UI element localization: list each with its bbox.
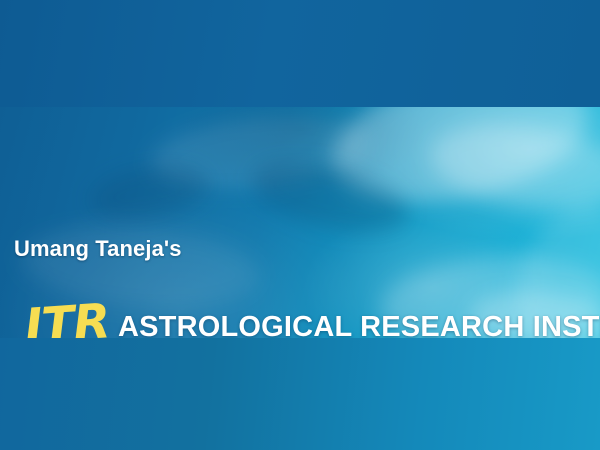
water-texture-wisp (245, 149, 415, 246)
brand-owner-name: Umang Taneja's (14, 236, 182, 262)
screenshot-root: Umang Taneja's JTR ASTROLOGICAL RESEARCH… (0, 0, 600, 450)
jtr-logo-text: JTR (24, 296, 111, 338)
jtr-logo-icon: JTR (24, 296, 120, 338)
water-texture-wisp (425, 113, 600, 220)
water-texture-wisp (87, 157, 214, 227)
institute-title: ASTROLOGICAL RESEARCH INSTITUTE (118, 311, 600, 338)
water-texture-wisp (147, 107, 373, 198)
banner-artwork: Umang Taneja's JTR ASTROLOGICAL RESEARCH… (0, 107, 600, 338)
letterbox-band-top (0, 0, 600, 107)
letterbox-band-bottom (0, 338, 600, 450)
water-texture-wisp (320, 107, 599, 223)
